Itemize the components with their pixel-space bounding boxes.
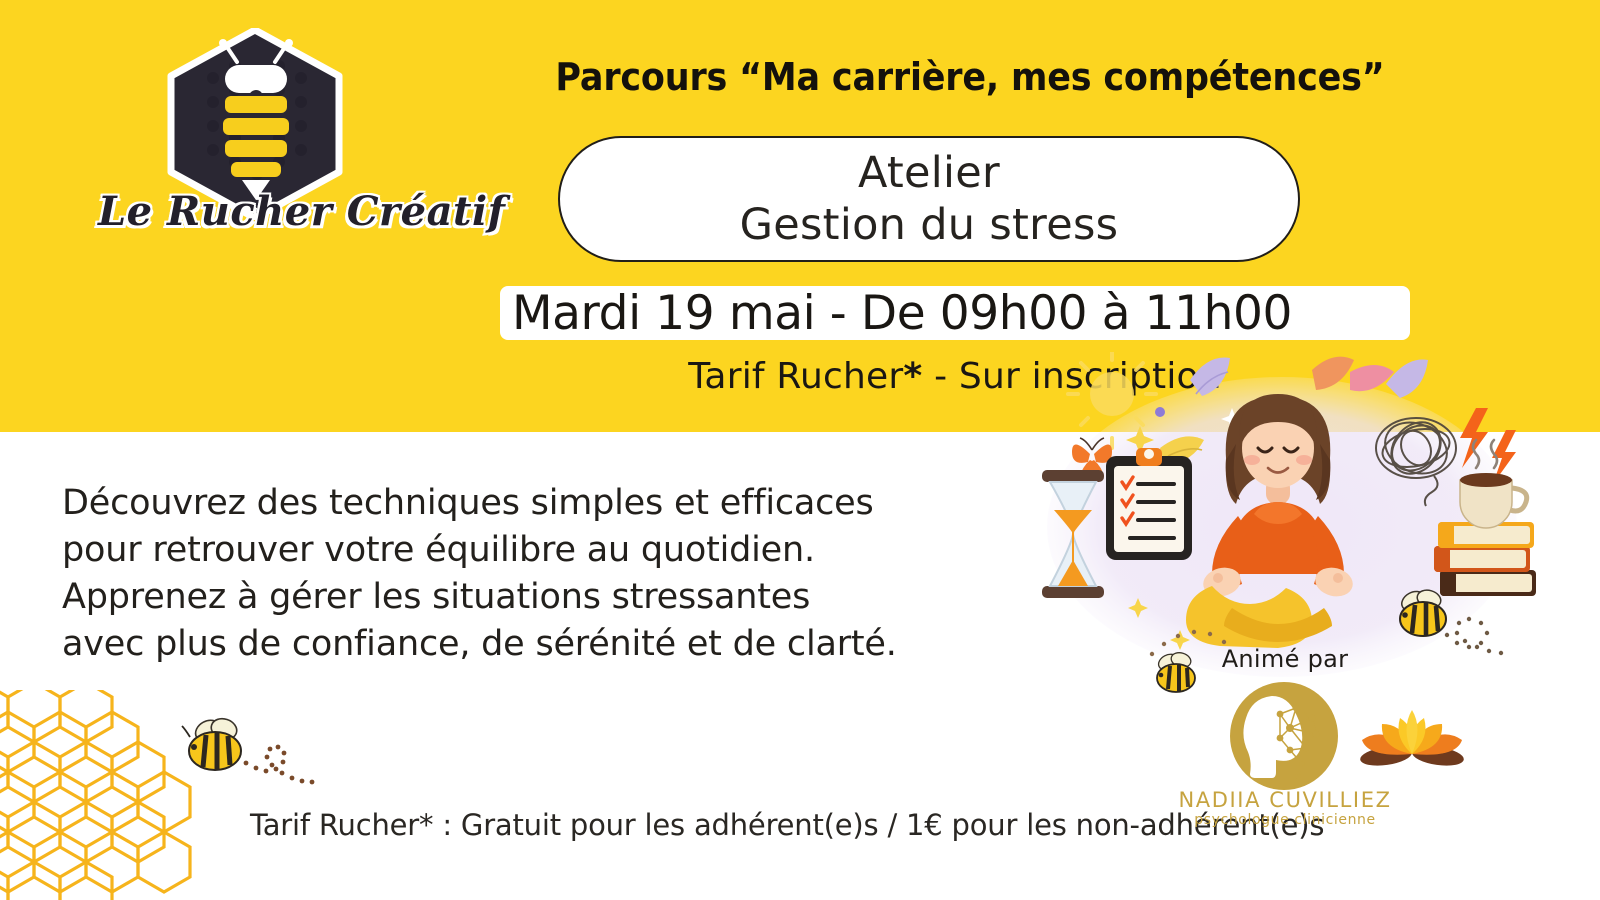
speaker-name: NADIIA CUVILLIEZ [1170,788,1400,812]
pricing-footnote: Tarif Rucher* : Gratuit pour les adhéren… [250,808,1324,842]
flying-bee-icon [170,705,320,810]
flying-bee-icon [1395,585,1515,675]
head-brain-network-logo [1228,680,1340,792]
flyer-canvas: Le Rucher Créatif Parcours “Ma carrière,… [0,0,1600,900]
description-line: Découvrez des techniques simples et effi… [62,480,962,527]
workshop-title-box: Atelier Gestion du stress [558,136,1300,262]
speaker-role: psychologue clinicienne [1170,812,1400,828]
brand-logo: Le Rucher Créatif [150,28,360,258]
speaker-intro-label: Animé par [1180,645,1390,673]
workshop-topic: Gestion du stress [740,199,1119,251]
description-paragraph: Découvrez des techniques simples et effi… [62,480,962,668]
description-line: pour retrouver votre équilibre au quotid… [62,527,962,574]
lotus-flower-icon [1352,690,1472,770]
date-time-bar: Mardi 19 mai - De 09h00 à 11h00 [500,286,1410,340]
pricing-asterisk: * [903,356,922,397]
date-time-text: Mardi 19 mai - De 09h00 à 11h00 [500,290,1292,337]
description-line: Apprenez à gérer les situations stressan… [62,574,962,621]
program-title: Parcours “Ma carrière, mes compétences” [482,56,1457,100]
brand-wordmark: Le Rucher Créatif [98,188,416,235]
description-line: avec plus de confiance, de sérénité et d… [62,621,962,668]
pricing-prefix: Tarif Rucher [688,356,903,397]
workshop-label: Atelier [858,147,1000,199]
